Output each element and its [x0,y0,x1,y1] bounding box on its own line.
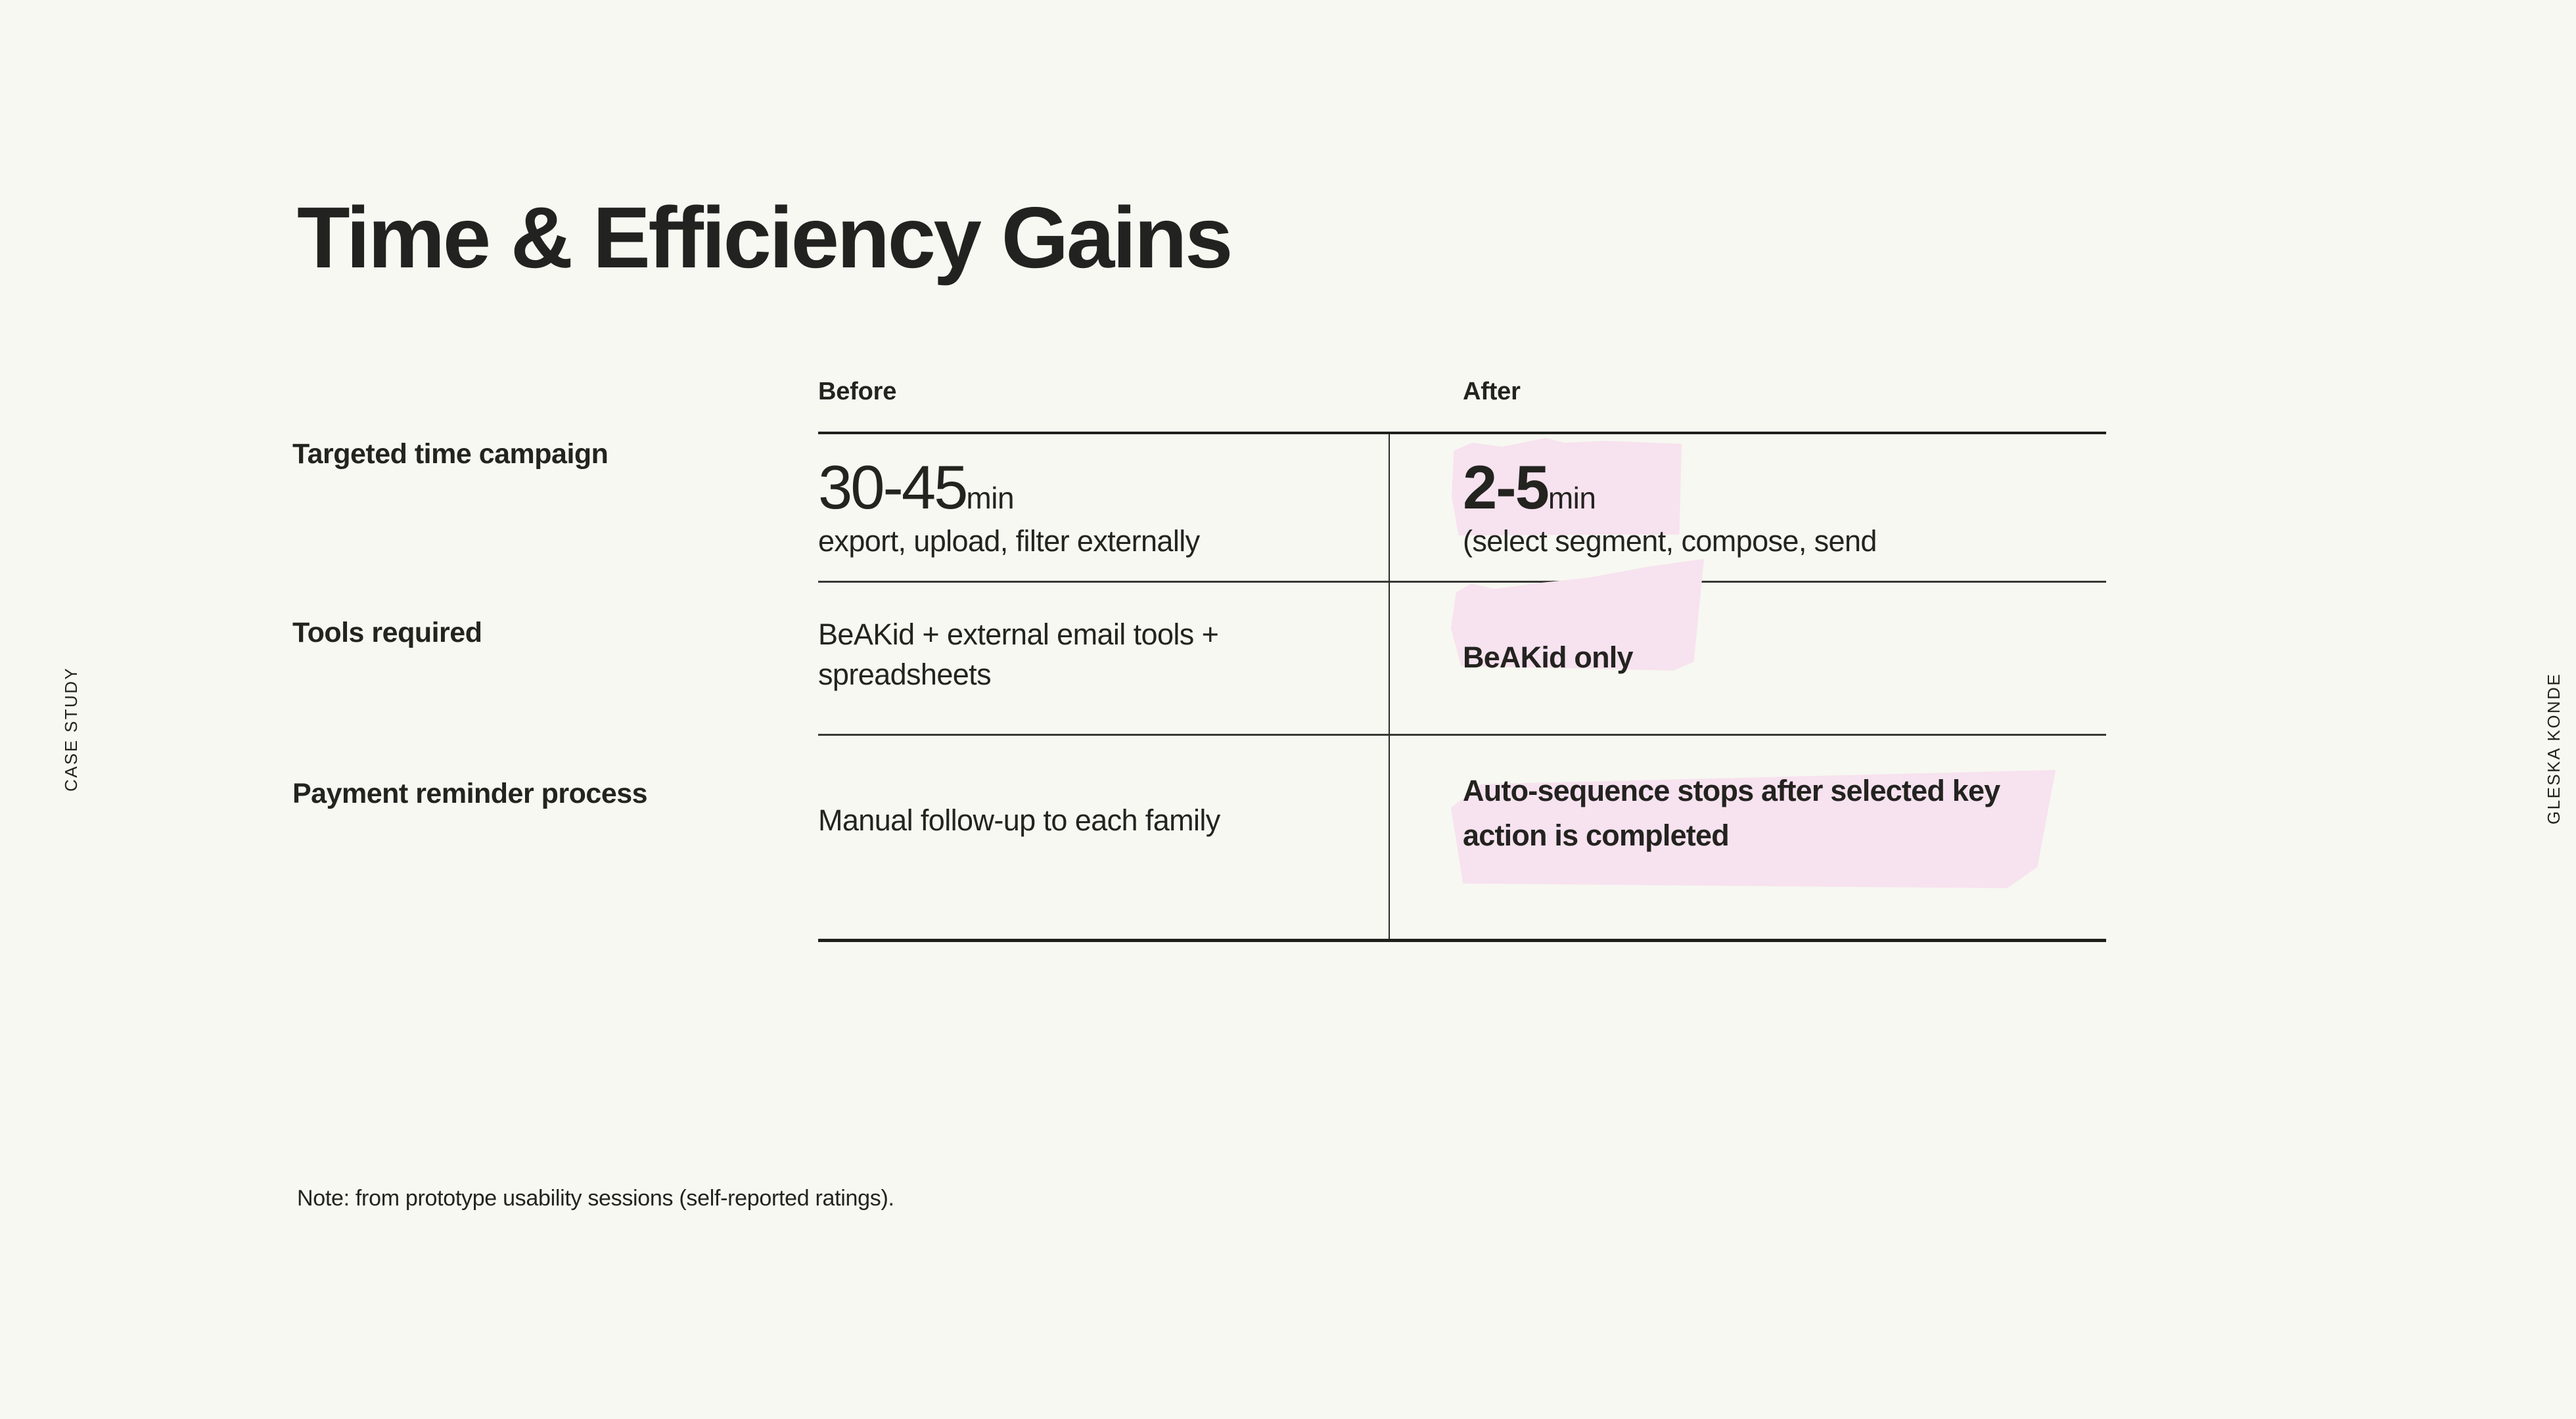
table-row: Payment reminder process Manual follow-u… [818,736,2106,939]
page-title: Time & Efficiency Gains [297,192,1231,284]
cell-before-row-3: Manual follow-up to each family [818,736,1389,939]
metric-value: 30-45 [818,453,966,522]
detail-after-row-2: BeAKid only [1463,635,2080,680]
detail-before-row-1: export, upload, filter externally [818,521,1343,561]
detail-after-row-3: Auto-sequence stops after selected key a… [1463,769,2080,859]
metric-unit: min [1548,481,1596,515]
table-body: Targeted time campaign 30-45min export, … [818,434,2106,939]
column-header-after: After [1463,378,1521,405]
table-header-row: Before After [818,378,2106,432]
metric-value: 2-5 [1463,453,1548,522]
cell-after-row-3: Auto-sequence stops after selected key a… [1389,736,2106,939]
cell-after-row-2: BeAKid only [1389,583,2106,734]
table-row: Tools required BeAKid + external email t… [818,583,2106,734]
side-label-brand: GLESKA KONDE [2544,673,2564,824]
row-label-payment-reminder-process: Payment reminder process [292,774,752,814]
table-rule-bottom [818,939,2106,942]
detail-before-row-3: Manual follow-up to each family [818,800,1343,840]
detail-before-row-2: BeAKid + external email tools + spreadsh… [818,614,1343,694]
column-header-before-wrap: Before [818,378,1389,432]
footnote: Note: from prototype usability sessions … [297,1186,894,1211]
row-label-targeted-time-campaign: Targeted time campaign [292,434,752,474]
metric-after-row-1: 2-5min [1463,454,2080,521]
side-label-case-study: CASE STUDY [61,667,81,792]
cell-before-row-2: BeAKid + external email tools + spreadsh… [818,583,1389,734]
column-header-after-wrap: After [1389,378,2106,432]
slide-canvas: CASE STUDY GLESKA KONDE Time & Efficienc… [0,0,2576,1419]
detail-after-row-1: (select segment, compose, send [1463,521,2080,561]
metric-unit: min [966,481,1014,515]
cell-after-row-1: 2-5min (select segment, compose, send [1389,434,2106,581]
row-label-tools-required: Tools required [292,613,752,653]
table-row: Targeted time campaign 30-45min export, … [818,434,2106,581]
cell-before-row-1: 30-45min export, upload, filter external… [818,434,1389,581]
column-header-before: Before [818,378,896,405]
comparison-table: Before After Targeted time campaign 30-4… [818,378,2106,942]
metric-before-row-1: 30-45min [818,454,1343,521]
